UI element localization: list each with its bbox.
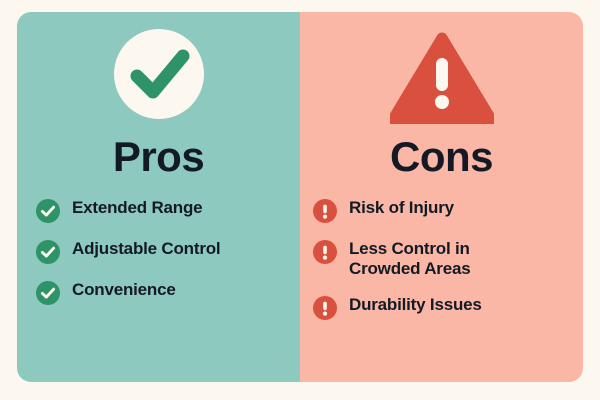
list-item-label: Adjustable Control [72, 239, 220, 259]
list-item: Risk of Injury [313, 198, 583, 223]
list-item: Less Control in Crowded Areas [313, 239, 583, 279]
list-item-label: Less Control in Crowded Areas [349, 239, 470, 279]
check-circle-bullet-icon [36, 240, 60, 264]
list-item: Durability Issues [313, 295, 583, 320]
cons-hero-icon-wrap [300, 12, 583, 124]
list-item: Adjustable Control [36, 239, 300, 264]
cons-heading: Cons [300, 136, 583, 178]
list-item-label: Extended Range [72, 198, 202, 218]
warning-triangle-icon [390, 32, 494, 124]
pros-list: Extended Range Adjustable Control [17, 198, 300, 305]
exclamation-circle-bullet-icon [313, 199, 337, 223]
list-item-label: Convenience [72, 280, 176, 300]
cons-list: Risk of Injury Less Control in Crowded A… [300, 198, 583, 320]
check-circle-icon [109, 24, 209, 124]
pros-panel: Pros Extended Range Adju [17, 12, 300, 382]
list-item: Extended Range [36, 198, 300, 223]
list-item-label: Risk of Injury [349, 198, 454, 218]
list-item: Convenience [36, 280, 300, 305]
exclamation-circle-bullet-icon [313, 296, 337, 320]
pros-heading: Pros [17, 136, 300, 178]
list-item-label: Durability Issues [349, 295, 482, 315]
check-circle-bullet-icon [36, 199, 60, 223]
pros-cons-board: Pros Extended Range Adju [17, 12, 583, 382]
cons-panel: Cons Risk of Injury [300, 12, 583, 382]
pros-hero-icon-wrap [17, 12, 300, 124]
exclamation-circle-bullet-icon [313, 240, 337, 264]
check-circle-bullet-icon [36, 281, 60, 305]
